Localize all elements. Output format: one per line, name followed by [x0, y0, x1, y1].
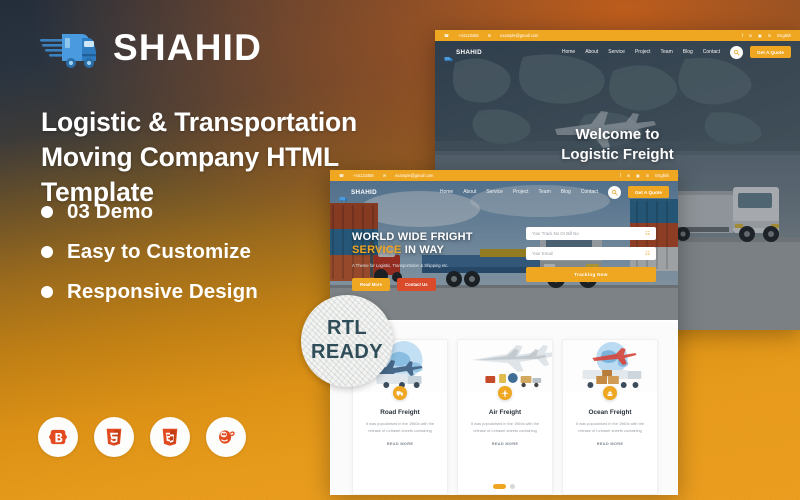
nav-item-about[interactable]: About	[585, 49, 598, 55]
instagram-icon[interactable]: ▣	[636, 173, 640, 178]
list-item: Easy to Customize	[41, 240, 258, 264]
twitter-icon[interactable]: w	[627, 173, 630, 178]
mailchimp-icon	[206, 417, 246, 457]
card-description: It was popularised in the 1960s with the…	[458, 421, 552, 435]
facebook-icon[interactable]: f	[742, 33, 743, 38]
instagram-icon[interactable]: ▣	[758, 33, 762, 38]
tracking-form: Your Track No Or Bill No ☷ Your Email ☷ …	[526, 227, 656, 282]
envelope-icon: ✉	[383, 173, 386, 178]
list-item: Responsive Design	[41, 280, 258, 304]
feature-label: Easy to Customize	[67, 240, 251, 264]
card-image-air	[458, 340, 552, 392]
email-placeholder: Your Email	[532, 251, 553, 256]
bullet-icon	[41, 206, 53, 218]
phone-icon: ☎	[339, 173, 344, 178]
nav-item-project[interactable]: Project	[513, 189, 529, 195]
mockup1-logo-text: SHAHID	[456, 49, 482, 56]
box-icon: ☷	[645, 231, 650, 237]
mockup2-hero-copy: WORLD WIDE FRIGHT SERVICE IN WAY A Theme…	[352, 231, 502, 291]
blue-truck-icon	[40, 24, 102, 70]
mockup2-hero: SHAHID Home About Service Project Team B…	[330, 181, 678, 320]
nav-item-about[interactable]: About	[463, 189, 476, 195]
brand-lockup: SHAHID	[40, 24, 262, 70]
technology-badges	[38, 417, 246, 457]
ship-icon	[603, 386, 617, 400]
linkedin-icon[interactable]: in	[646, 173, 649, 178]
feature-label: Responsive Design	[67, 280, 258, 304]
linkedin-icon[interactable]: in	[768, 33, 771, 38]
hero-title-line2: Logistic Freight	[435, 145, 800, 165]
rtl-ready-badge: RTL READY	[301, 295, 393, 387]
envelope-icon: ✉	[488, 33, 491, 38]
card-title: Road Freight	[353, 409, 447, 416]
rtl-badge-line2: READY	[311, 341, 383, 365]
mockup1-logo[interactable]: SHAHID	[444, 49, 482, 56]
nav-item-home[interactable]: Home	[440, 189, 453, 195]
nav-item-blog[interactable]: Blog	[683, 49, 693, 55]
service-card-air-freight[interactable]: Air Freight It was popularised in the 19…	[457, 339, 553, 495]
card-image-ocean	[563, 340, 657, 392]
mockup2-nav-links: Home About Service Project Team Blog Con…	[440, 189, 598, 195]
card-title: Air Freight	[458, 409, 552, 416]
read-more-link[interactable]: READ MORE	[458, 441, 552, 446]
pagination-dot-active[interactable]	[493, 484, 506, 489]
track-number-placeholder: Your Track No Or Bill No	[532, 231, 579, 236]
mockup2-topbar: ☎ +44123456 ✉ example@gmail.com f w ▣ in…	[330, 170, 678, 181]
mockup1-topbar: ☎ +44123456 ✉ example@gmail.com f w ▣ in…	[435, 30, 800, 41]
read-more-button[interactable]: Read More	[352, 278, 390, 291]
read-more-link[interactable]: READ MORE	[353, 441, 447, 446]
language-selector[interactable]: English	[655, 173, 669, 178]
card-description: It was popularised in the 1960s with the…	[353, 421, 447, 435]
topbar-phone: +44123456	[458, 33, 479, 38]
box-icon: ☷	[645, 251, 650, 257]
truck-icon	[444, 49, 453, 56]
card-description: It was popularised in the 1960s with the…	[563, 421, 657, 435]
brand-name: SHAHID	[113, 29, 262, 66]
carousel-pagination	[330, 484, 678, 489]
topbar-email: example@gmail.com	[395, 173, 433, 178]
hero-title-highlight: SERVICE	[352, 244, 402, 256]
plane-icon	[498, 386, 512, 400]
feature-list: 03 Demo Easy to Customize Responsive Des…	[41, 200, 258, 320]
rtl-badge-line1: RTL	[327, 317, 367, 341]
css3-icon	[94, 417, 134, 457]
phone-icon: ☎	[444, 33, 449, 38]
facebook-icon[interactable]: f	[620, 173, 621, 178]
truck-icon	[339, 189, 348, 196]
html5-icon	[150, 417, 190, 457]
mockup1-nav-links: Home About Service Project Team Blog Con…	[562, 49, 720, 55]
topbar-email: example@gmail.com	[500, 33, 538, 38]
nav-item-service[interactable]: Service	[486, 189, 503, 195]
nav-item-contact[interactable]: Contact	[581, 189, 598, 195]
language-selector[interactable]: English	[777, 33, 791, 38]
track-number-field[interactable]: Your Track No Or Bill No ☷	[526, 227, 656, 240]
mockup2-navbar: SHAHID Home About Service Project Team B…	[330, 181, 678, 203]
service-card-ocean-freight[interactable]: Ocean Freight It was popularised in the …	[562, 339, 658, 495]
mockup2-logo-text: SHAHID	[351, 189, 377, 196]
hero-title-line1: WORLD WIDE FRIGHT	[352, 231, 502, 244]
hero-title-line2: SERVICE IN WAY	[352, 244, 502, 257]
nav-item-team[interactable]: Team	[661, 49, 673, 55]
mockup2-logo[interactable]: SHAHID	[339, 189, 377, 196]
topbar-phone: +44123456	[353, 173, 374, 178]
feature-label: 03 Demo	[67, 200, 153, 224]
contact-us-button[interactable]: Contact Us	[397, 278, 436, 291]
hero-subtitle: A Theme for Logistic, Transportation & S…	[352, 263, 502, 269]
pagination-dot[interactable]	[510, 484, 515, 489]
mockup1-navbar: SHAHID Home About Service Project Team B…	[435, 41, 800, 63]
nav-item-contact[interactable]: Contact	[703, 49, 720, 55]
nav-item-home[interactable]: Home	[562, 49, 575, 55]
hero-title-line1: Welcome to	[435, 125, 800, 145]
bullet-icon	[41, 286, 53, 298]
hero-button-group: Read More Contact Us	[352, 278, 502, 291]
card-title: Ocean Freight	[563, 409, 657, 416]
read-more-link[interactable]: READ MORE	[563, 441, 657, 446]
email-field[interactable]: Your Email ☷	[526, 247, 656, 260]
nav-item-blog[interactable]: Blog	[561, 189, 571, 195]
bullet-icon	[41, 246, 53, 258]
tracking-now-button[interactable]: Tracking Now	[526, 267, 656, 282]
bootstrap-icon	[38, 417, 78, 457]
get-a-quote-button[interactable]: Get A Quote	[750, 46, 791, 58]
hero-title-rest: IN WAY	[402, 244, 445, 256]
nav-item-service[interactable]: Service	[608, 49, 625, 55]
get-a-quote-button[interactable]: Get A Quote	[628, 186, 669, 198]
search-icon[interactable]	[730, 46, 743, 59]
nav-item-project[interactable]: Project	[635, 49, 651, 55]
truck-icon	[393, 386, 407, 400]
search-icon[interactable]	[608, 186, 621, 199]
twitter-icon[interactable]: w	[749, 33, 752, 38]
list-item: 03 Demo	[41, 200, 258, 224]
nav-item-team[interactable]: Team	[539, 189, 551, 195]
